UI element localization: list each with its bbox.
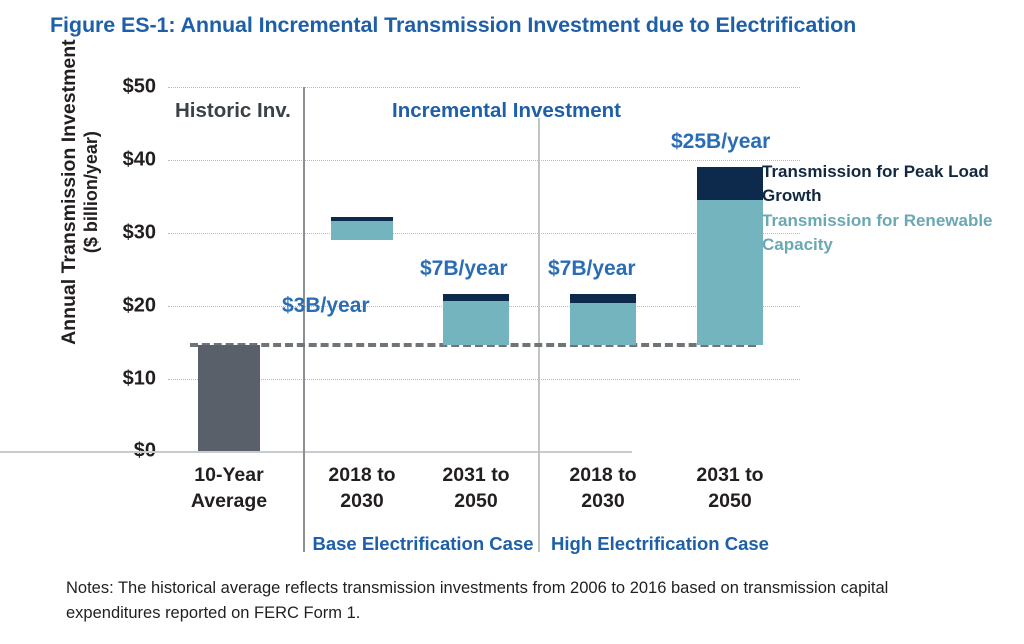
bar-base-2031-2050[interactable] <box>443 294 509 345</box>
bar-segment-renewable <box>697 200 763 345</box>
x-label-line1: 2031 to <box>655 463 805 489</box>
bar-value-label-high-2031-2050: $25B/year <box>671 130 770 154</box>
case-label-high: High Electrification Case <box>540 533 780 555</box>
case-label-base: Base Electrification Case <box>303 533 543 555</box>
x-label-line2: Average <box>154 489 304 515</box>
bar-segment-peak-load <box>443 294 509 301</box>
bar-segment-peak-load <box>697 167 763 200</box>
x-label-10-year-average: 10-Year Average <box>154 463 304 514</box>
bar-high-2018-2030[interactable] <box>570 294 636 345</box>
bar-segment-renewable <box>443 301 509 345</box>
bar-base-2018-2030[interactable] <box>331 217 393 345</box>
bar-high-2031-2050[interactable] <box>697 167 763 345</box>
bar-value-label-base-2031-2050: $7B/year <box>420 257 508 281</box>
bar-segment-renewable <box>570 303 636 345</box>
x-label-high-2031-2050: 2031 to 2050 <box>655 463 805 514</box>
legend-item-renewable: Transmission for Renewable Capacity <box>762 209 1012 257</box>
bar-segment-renewable <box>331 221 393 240</box>
bar-value-label-base-2018-2030: $3B/year <box>282 294 370 318</box>
bar-10-year-average[interactable] <box>198 345 260 451</box>
chart-canvas: Annual Transmission Investment ($ billio… <box>0 0 1024 570</box>
legend-item-peak-load: Transmission for Peak Load Growth <box>762 160 1012 208</box>
x-label-line1: 10-Year <box>154 463 304 489</box>
bar-value-label-high-2018-2030: $7B/year <box>548 257 636 281</box>
bar-segment-historic <box>198 345 260 451</box>
figure-notes: Notes: The historical average reflects t… <box>66 576 986 626</box>
x-label-line2: 2050 <box>655 489 805 515</box>
legend: Transmission for Peak Load Growth Transm… <box>762 160 1012 258</box>
bar-segment-peak-load <box>570 294 636 303</box>
